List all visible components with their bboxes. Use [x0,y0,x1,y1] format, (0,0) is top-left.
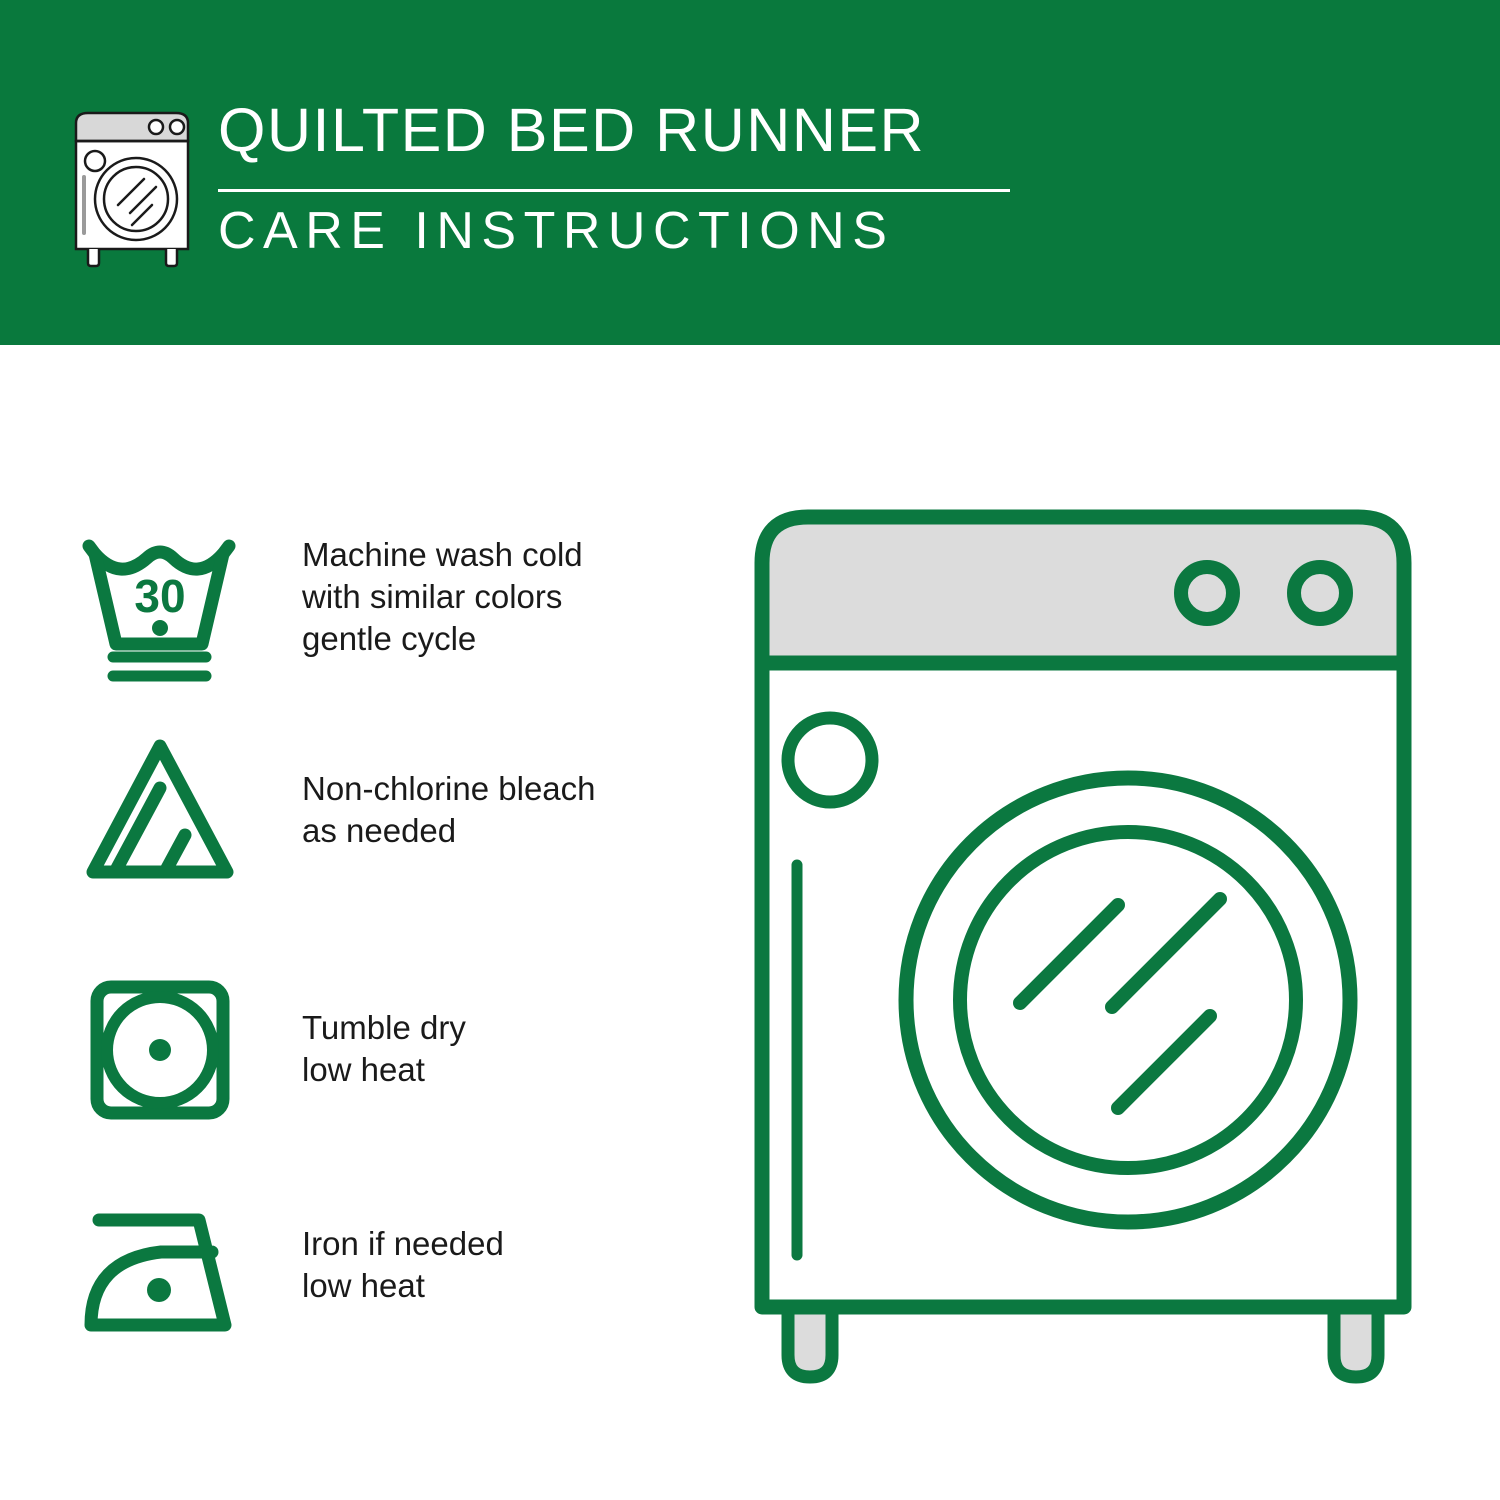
page-title: QUILTED BED RUNNER [218,96,1018,164]
washing-machine-icon [60,103,210,268]
wash-temperature-label: 30 [134,570,185,622]
control-panel [762,517,1404,663]
care-text-line: low heat [302,1049,682,1091]
care-text-line: Iron if needed [302,1223,682,1265]
care-text-line: low heat [302,1265,682,1307]
care-text-line: with similar colors [302,576,682,618]
care-row: Iron if needed low heat [0,1190,700,1390]
care-text-line: as needed [302,810,682,852]
care-row: Non-chlorine bleach as needed [0,730,700,930]
bleach-triangle-icon [75,730,245,900]
care-text-line: Tumble dry [302,1007,682,1049]
care-text-line: gentle cycle [302,618,682,660]
care-instructions-page: QUILTED BED RUNNER CARE INSTRUCTIONS 30 [0,0,1500,1500]
care-text: Non-chlorine bleach as needed [302,768,682,852]
care-row: 30 Machine wash cold with similar colors… [0,520,700,720]
front-load-washing-machine-illustration [740,495,1450,1425]
page-subtitle: CARE INSTRUCTIONS [218,200,894,262]
care-text-line: Non-chlorine bleach [302,768,682,810]
care-text: Machine wash cold with similar colors ge… [302,534,682,660]
care-text: Tumble dry low heat [302,1007,682,1091]
care-instructions-list: 30 Machine wash cold with similar colors… [0,345,700,1500]
title-divider [218,189,1010,192]
iron-low-heat-icon [75,1190,245,1360]
care-text: Iron if needed low heat [302,1223,682,1307]
care-row: Tumble dry low heat [0,965,700,1165]
header-band: QUILTED BED RUNNER CARE INSTRUCTIONS [0,0,1500,345]
care-text-line: Machine wash cold [302,534,682,576]
wash-tub-30-icon: 30 [75,520,245,690]
tumble-dry-low-icon [75,965,245,1135]
